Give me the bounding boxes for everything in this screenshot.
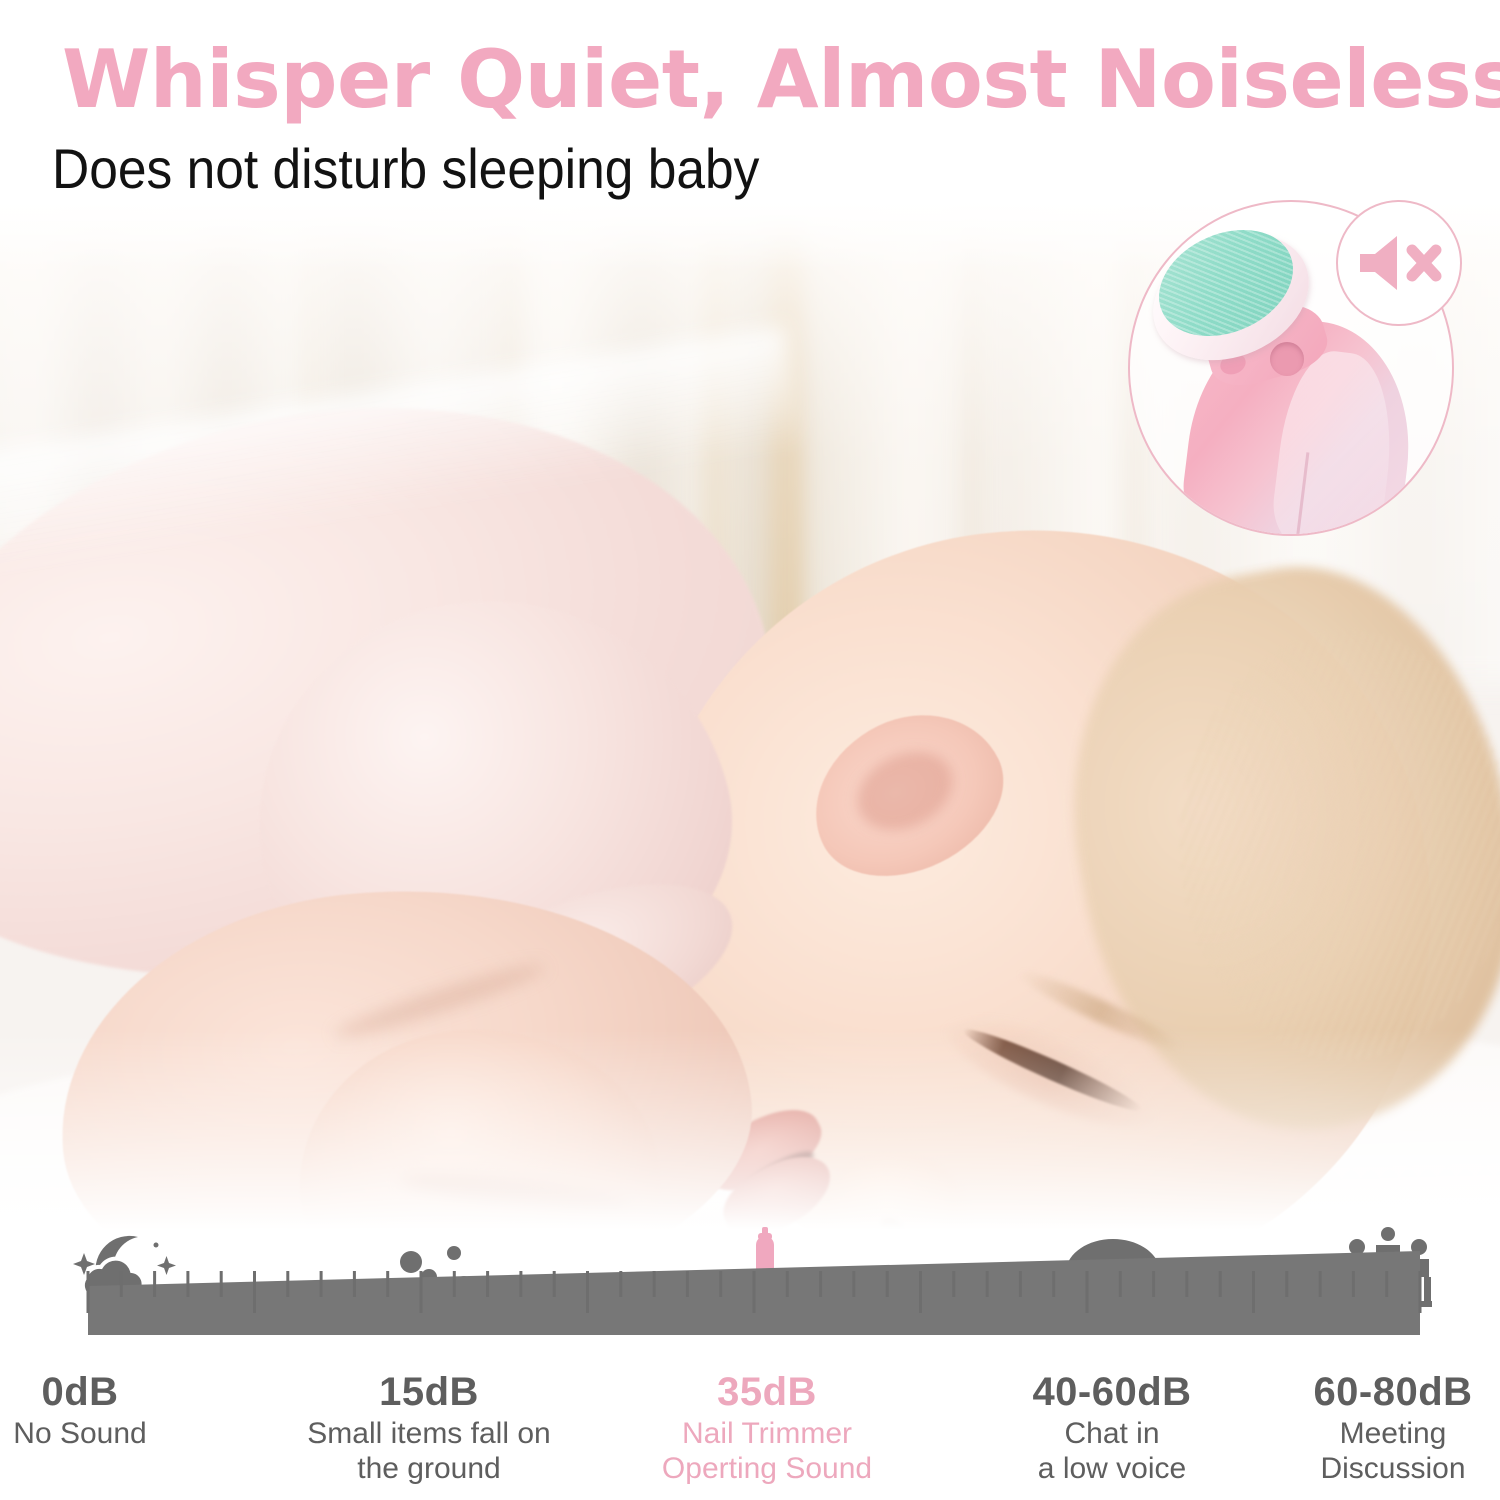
- db-description: Small items fall on the ground: [279, 1417, 579, 1487]
- page-title: Whisper Quiet, Almost Noiseless: [62, 40, 1472, 120]
- db-description-line1: Nail Trimmer: [682, 1417, 852, 1450]
- db-description: No Sound: [0, 1417, 230, 1452]
- db-description: Chat in a low voice: [962, 1417, 1262, 1487]
- db-value: 35dB: [617, 1370, 917, 1415]
- db-description-line1: Meeting: [1340, 1417, 1447, 1450]
- scale-label-0db: 0dB No Sound: [0, 1370, 230, 1452]
- scale-label-15db: 15dB Small items fall on the ground: [279, 1370, 579, 1486]
- scale-label-35db: 35dB Nail Trimmer Operting Sound: [617, 1370, 917, 1486]
- db-value: 0dB: [0, 1370, 230, 1415]
- db-description: Nail Trimmer Operting Sound: [617, 1417, 917, 1487]
- db-description-line2: the ground: [357, 1452, 500, 1485]
- db-value: 15dB: [279, 1370, 579, 1415]
- photo-bottom-fade: [0, 1030, 1500, 1230]
- db-value: 40-60dB: [962, 1370, 1262, 1415]
- infographic-root: Whisper Quiet, Almost Noiseless Does not…: [0, 0, 1500, 1500]
- scale-label-60-80db: 60-80dB Meeting Discussion: [1243, 1370, 1500, 1486]
- ruler-ticks: [0, 1225, 1500, 1375]
- decibel-scale: 0dB No Sound 15dB Small items fall on th…: [0, 1225, 1500, 1500]
- db-description-line1: Chat in: [1064, 1417, 1159, 1450]
- db-description-line2: a low voice: [1038, 1452, 1186, 1485]
- db-description-line2: Operting Sound: [662, 1452, 872, 1485]
- db-description-line2: Discussion: [1320, 1452, 1465, 1485]
- page-subtitle: Does not disturb sleeping baby: [52, 140, 759, 199]
- trimmer-socket: [1270, 342, 1304, 376]
- scale-labels: 0dB No Sound 15dB Small items fall on th…: [0, 1370, 1500, 1500]
- mute-badge: [1336, 200, 1462, 326]
- db-description: Meeting Discussion: [1243, 1417, 1500, 1487]
- speaker-mute-icon: [1356, 232, 1442, 294]
- db-description-line1: Small items fall on: [307, 1417, 550, 1450]
- db-value: 60-80dB: [1243, 1370, 1500, 1415]
- scale-label-40-60db: 40-60dB Chat in a low voice: [962, 1370, 1262, 1486]
- product-inset: [1128, 200, 1458, 540]
- baby-hair-wisps: [1180, 630, 1500, 1060]
